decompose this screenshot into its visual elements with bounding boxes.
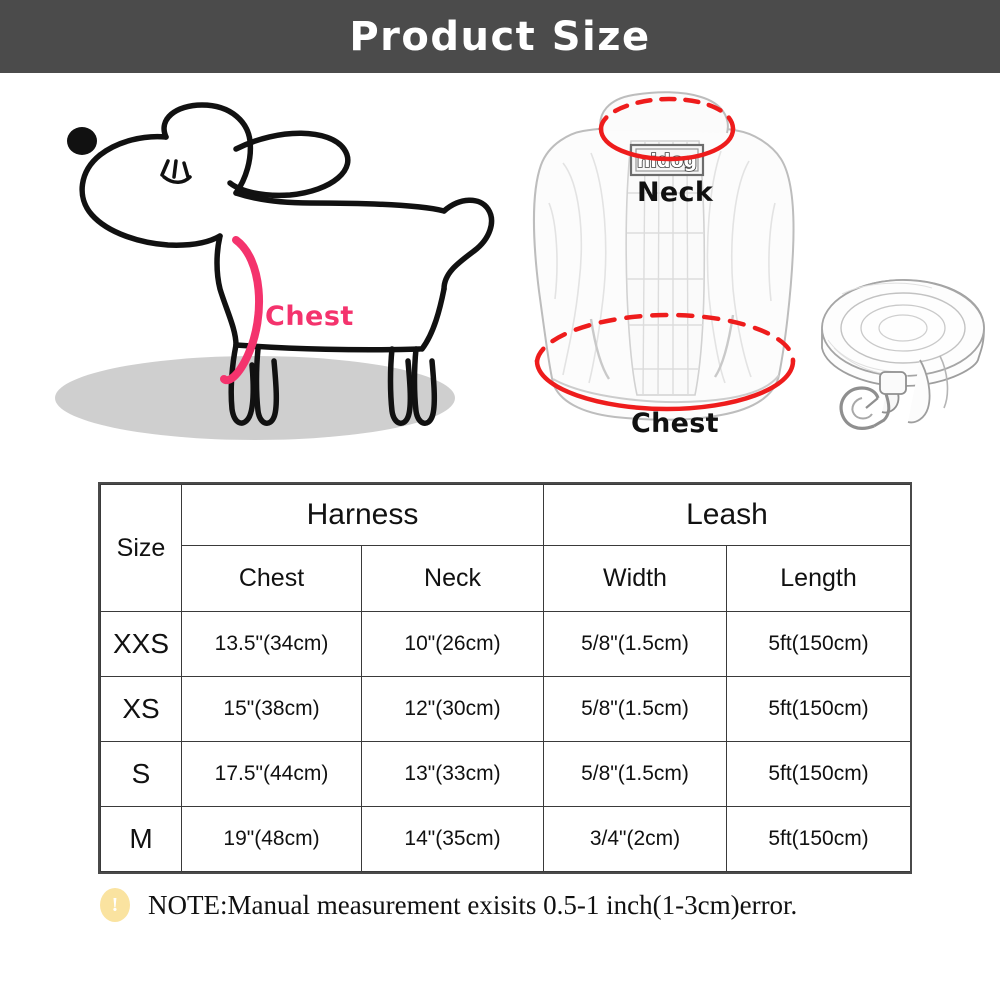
dog-line-drawing: [40, 93, 530, 453]
table-header-group-row: Size Harness Leash: [101, 485, 911, 546]
leash-coil: [822, 280, 984, 422]
table-row: XS 15"(38cm) 12"(30cm) 5/8"(1.5cm) 5ft(1…: [101, 677, 911, 742]
table-header-length: Length: [727, 546, 911, 612]
harness-neck-label: Neck: [637, 177, 713, 208]
row-size: XS: [101, 677, 182, 742]
table-header-neck: Neck: [362, 546, 544, 612]
row-neck: 12"(30cm): [362, 677, 544, 742]
dog-neck-front-outline: [217, 236, 236, 345]
row-width: 5/8"(1.5cm): [544, 612, 727, 677]
table-header-size: Size: [101, 485, 182, 612]
row-length: 5ft(150cm): [727, 612, 911, 677]
table-header-sub-row: Chest Neck Width Length: [101, 546, 911, 612]
note-row: ! NOTE:Manual measurement exisits 0.5-1 …: [100, 888, 920, 922]
row-size: XXS: [101, 612, 182, 677]
row-neck: 13"(33cm): [362, 742, 544, 807]
dog-chest-label: Chest: [265, 301, 354, 332]
note-text: NOTE:Manual measurement exisits 0.5-1 in…: [148, 890, 797, 921]
dog-rear-outline: [422, 289, 444, 349]
row-width: 5/8"(1.5cm): [544, 742, 727, 807]
row-length: 5ft(150cm): [727, 807, 911, 872]
size-table: Size Harness Leash Chest Neck Width Leng…: [100, 484, 911, 872]
table-header-width: Width: [544, 546, 727, 612]
table-row: M 19"(48cm) 14"(35cm) 3/4"(2cm) 5ft(150c…: [101, 807, 911, 872]
row-chest: 17.5"(44cm): [182, 742, 362, 807]
table-row: XXS 13.5"(34cm) 10"(26cm) 5/8"(1.5cm) 5f…: [101, 612, 911, 677]
table-header-chest: Chest: [182, 546, 362, 612]
harness-fleece-body: [534, 92, 794, 420]
harness-chest-label: Chest: [631, 408, 719, 439]
coiled-leash-with-snap-hook: [812, 248, 992, 448]
dog-head-outline: [82, 155, 220, 245]
row-size: M: [101, 807, 182, 872]
illustration-band: Chest: [0, 73, 1000, 473]
dog-tail-outline: [444, 200, 492, 289]
row-neck: 14"(35cm): [362, 807, 544, 872]
warning-icon: !: [100, 888, 130, 922]
row-width: 3/4"(2cm): [544, 807, 727, 872]
row-length: 5ft(150cm): [727, 742, 911, 807]
row-chest: 19"(48cm): [182, 807, 362, 872]
row-length: 5ft(150cm): [727, 677, 911, 742]
dog-jaw-outline: [100, 137, 166, 155]
table-row: S 17.5"(44cm) 13"(33cm) 5/8"(1.5cm) 5ft(…: [101, 742, 911, 807]
page-title: Product Size: [349, 14, 650, 60]
size-table-container: Size Harness Leash Chest Neck Width Leng…: [100, 484, 910, 872]
dog-eye: [162, 161, 190, 182]
dog-harness-vest: nidog: [505, 83, 825, 463]
table-header-harness: Harness: [182, 485, 544, 546]
row-neck: 10"(26cm): [362, 612, 544, 677]
row-chest: 15"(38cm): [182, 677, 362, 742]
page-header-bar: Product Size: [0, 0, 1000, 73]
dog-nose: [67, 127, 97, 155]
row-size: S: [101, 742, 182, 807]
row-chest: 13.5"(34cm): [182, 612, 362, 677]
table-header-leash: Leash: [544, 485, 911, 546]
row-width: 5/8"(1.5cm): [544, 677, 727, 742]
